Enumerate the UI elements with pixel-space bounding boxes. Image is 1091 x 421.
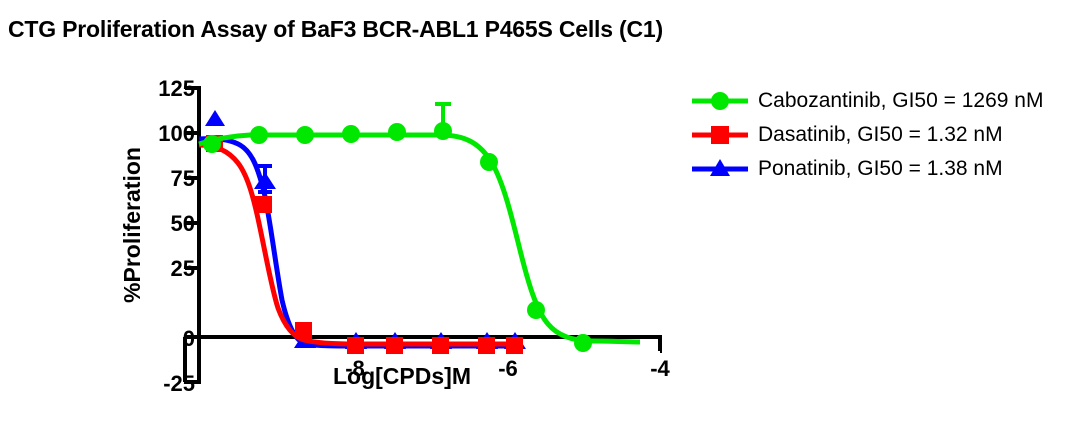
legend-label-ponatinib: Ponatinib, GI50 = 1.38 nM: [752, 157, 1003, 181]
legend-item-ponatinib: Ponatinib, GI50 = 1.38 nM: [690, 152, 1043, 186]
legend: Cabozantinib, GI50 = 1269 nM Dasatinib, …: [690, 84, 1043, 186]
legend-item-dasatinib: Dasatinib, GI50 = 1.32 nM: [690, 118, 1043, 152]
data-point-group: [206, 135, 523, 354]
legend-label-cabozantinib: Cabozantinib, GI50 = 1269 nM: [752, 89, 1043, 113]
legend-marker-square-icon: [690, 120, 752, 150]
legend-item-cabozantinib: Cabozantinib, GI50 = 1269 nM: [690, 84, 1043, 118]
series-dasatinib: [199, 135, 523, 354]
legend-marker-circle-icon: [690, 86, 752, 116]
plot-area: 125 100 75 50 25 0 -25 -8 -6 -4 %Prolife…: [0, 0, 700, 421]
chart-figure: CTG Proliferation Assay of BaF3 BCR-ABL1…: [0, 0, 1091, 421]
legend-marker-triangle-icon: [690, 154, 752, 184]
legend-label-dasatinib: Dasatinib, GI50 = 1.32 nM: [752, 123, 1003, 147]
plot-svg: [0, 0, 700, 421]
y-axis-ticks: [185, 88, 199, 382]
series-cabozantinib: [199, 104, 640, 352]
